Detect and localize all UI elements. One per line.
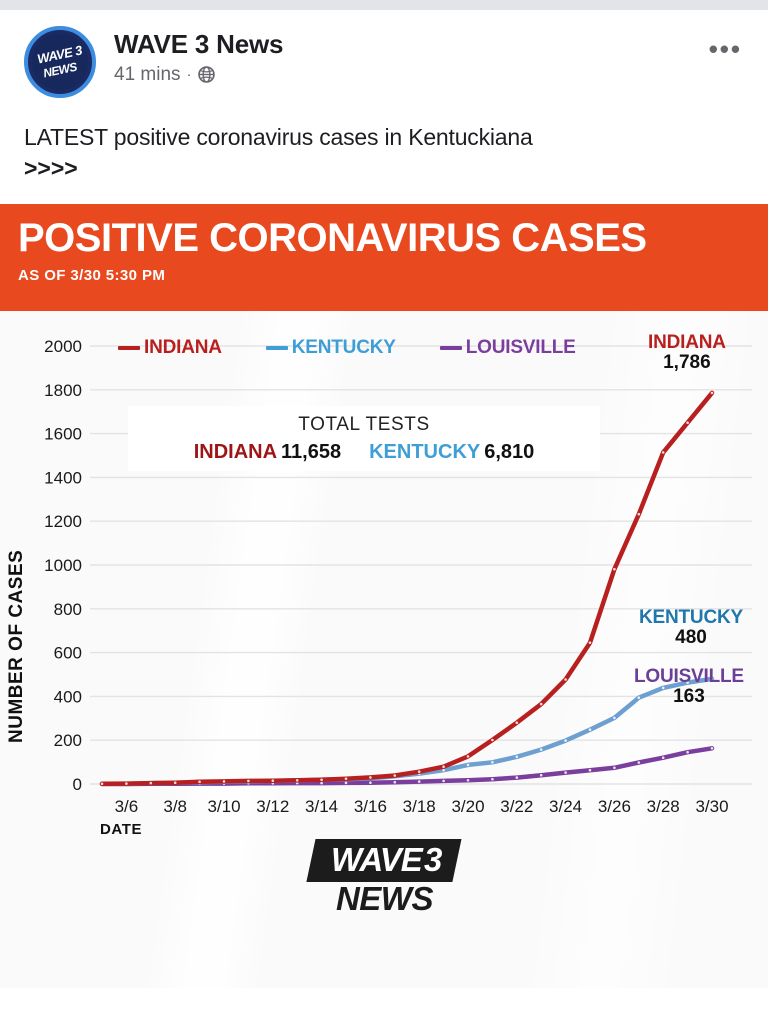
series-marker (589, 641, 592, 644)
series-marker (467, 764, 470, 767)
legend-item-indiana[interactable]: INDIANA (118, 337, 222, 359)
series-marker (320, 779, 323, 782)
post-meta: 41 mins · (114, 64, 283, 86)
series-marker (589, 769, 592, 772)
page-title[interactable]: WAVE 3 News (114, 30, 283, 60)
x-tick-label: 3/24 (549, 797, 582, 816)
series-marker (223, 780, 226, 783)
legend-swatch-indiana (118, 346, 140, 350)
total-tests-panel: TOTAL TESTS INDIANA11,658 KENTUCKY6,810 (128, 406, 600, 471)
series-marker (686, 751, 689, 754)
wave-logo-bar: WAVE 3 (306, 839, 461, 882)
series-marker (272, 779, 275, 782)
series-marker (442, 780, 445, 783)
x-tick-label: 3/16 (354, 797, 387, 816)
series-marker (589, 728, 592, 731)
total-tests-indiana-label: INDIANA (194, 441, 277, 463)
series-marker (320, 782, 323, 785)
x-tick-label: 3/6 (115, 797, 139, 816)
series-marker (711, 747, 714, 750)
x-tick-label: 3/14 (305, 797, 338, 816)
series-marker (394, 774, 397, 777)
total-tests-kentucky: KENTUCKY6,810 (369, 441, 534, 464)
avatar-logo: WAVE 3 NEWS (32, 34, 88, 90)
series-marker (247, 780, 250, 783)
x-tick-label: 3/30 (695, 797, 728, 816)
series-marker (564, 739, 567, 742)
x-tick-label: 3/8 (163, 797, 187, 816)
series-marker (345, 782, 348, 785)
series-endlabel-louisville: LOUISVILLE 163 (634, 667, 744, 707)
y-tick-label: 600 (54, 644, 82, 663)
series-marker (174, 781, 177, 784)
x-tick-label: 3/18 (403, 797, 436, 816)
series-endlabel-louisville-name: LOUISVILLE (634, 667, 744, 687)
wave-logo-sub-text: NEWS (336, 880, 433, 918)
series-marker (662, 451, 665, 454)
wave-logo-sub: NEWS (332, 880, 436, 918)
post-message: LATEST positive coronavirus cases in Ken… (0, 98, 768, 184)
series-marker (125, 782, 128, 785)
legend-item-louisville[interactable]: LOUISVILLE (440, 337, 576, 359)
series-endlabel-kentucky: KENTUCKY 480 (639, 608, 743, 648)
series-marker (442, 769, 445, 772)
series-endlabel-kentucky-value: 480 (639, 628, 743, 648)
y-tick-label: 1200 (44, 512, 82, 531)
legend-swatch-kentucky (266, 346, 288, 350)
more-options-icon[interactable]: ••• (709, 36, 742, 62)
series-marker (418, 780, 421, 783)
total-tests-values: INDIANA11,658 KENTUCKY6,810 (194, 441, 535, 464)
post-header-text: WAVE 3 News 41 mins · (114, 26, 283, 86)
x-tick-label: 3/28 (647, 797, 680, 816)
y-tick-label: 1000 (44, 556, 82, 575)
status-bar-strip (0, 0, 768, 10)
wave-logo-number: 3 (424, 841, 441, 879)
x-axis-title: DATE (100, 821, 142, 838)
series-marker (369, 776, 372, 779)
y-tick-label: 400 (54, 687, 82, 706)
series-marker (394, 781, 397, 784)
series-marker (345, 777, 348, 780)
facebook-post-screenshot: WAVE 3 NEWS WAVE 3 News 41 mins · (0, 0, 768, 1024)
post-timestamp[interactable]: 41 mins (114, 64, 181, 86)
series-line-louisville (102, 748, 712, 784)
meta-separator: · (187, 66, 192, 83)
y-tick-label: 1600 (44, 425, 82, 444)
banner-subtitle: AS OF 3/30 5:30 PM (18, 267, 750, 284)
series-marker (491, 761, 494, 764)
series-marker (638, 513, 641, 516)
x-tick-label: 3/10 (207, 797, 240, 816)
post-message-line-2: >>>> (24, 153, 744, 184)
series-marker (418, 770, 421, 773)
series-endlabel-louisville-value: 163 (634, 687, 744, 707)
y-tick-label: 200 (54, 731, 82, 750)
series-marker (686, 421, 689, 424)
legend-label-kentucky: KENTUCKY (292, 337, 396, 359)
y-tick-label: 0 (73, 775, 82, 794)
x-tick-label: 3/22 (500, 797, 533, 816)
globe-icon[interactable] (198, 66, 215, 83)
series-marker (564, 771, 567, 774)
wave-news-logo: WAVE 3 NEWS (311, 839, 457, 918)
total-tests-indiana: INDIANA11,658 (194, 441, 341, 464)
series-marker (613, 767, 616, 770)
series-marker (491, 778, 494, 781)
chart-graphic: 0200400600800100012001400160018002000 3/… (0, 311, 768, 988)
y-axis-title: NUMBER OF CASES (6, 550, 28, 743)
series-endlabel-indiana-name: INDIANA (648, 333, 726, 353)
x-tick-label: 3/12 (256, 797, 289, 816)
wave-logo-text: WAVE (331, 841, 422, 879)
series-marker (662, 756, 665, 759)
series-marker (564, 678, 567, 681)
x-axis-tick-labels: 3/63/83/103/123/143/163/183/203/223/243/… (115, 797, 729, 816)
series-marker (540, 774, 543, 777)
y-tick-label: 1400 (44, 468, 82, 487)
series-marker (638, 761, 641, 764)
series-marker (540, 703, 543, 706)
total-tests-kentucky-label: KENTUCKY (369, 441, 480, 463)
legend-swatch-louisville (440, 346, 462, 350)
series-marker (516, 756, 519, 759)
banner-title: POSITIVE CORONAVIRUS CASES (18, 218, 750, 258)
post-message-line-1: LATEST positive coronavirus cases in Ken… (24, 124, 533, 150)
series-marker (442, 765, 445, 768)
legend-label-indiana: INDIANA (144, 337, 222, 359)
series-endlabel-indiana-value: 1,786 (648, 353, 726, 373)
series-marker (516, 776, 519, 779)
x-tick-label: 3/26 (598, 797, 631, 816)
series-marker (101, 783, 104, 786)
series-marker (198, 781, 201, 784)
total-tests-kentucky-value: 6,810 (484, 441, 534, 463)
series-marker (516, 721, 519, 724)
legend-item-kentucky[interactable]: KENTUCKY (266, 337, 396, 359)
series-endlabel-indiana: INDIANA 1,786 (648, 333, 726, 373)
series-marker (491, 739, 494, 742)
x-tick-label: 3/20 (451, 797, 484, 816)
graphic-banner: POSITIVE CORONAVIRUS CASES AS OF 3/30 5:… (0, 204, 768, 311)
avatar[interactable]: WAVE 3 NEWS (24, 26, 96, 98)
series-marker (467, 755, 470, 758)
series-marker (467, 779, 470, 782)
total-tests-title: TOTAL TESTS (298, 414, 430, 436)
series-marker (613, 717, 616, 720)
series-marker (150, 782, 153, 785)
y-tick-label: 800 (54, 600, 82, 619)
series-marker (540, 748, 543, 751)
y-axis-tick-labels: 0200400600800100012001400160018002000 (44, 337, 82, 794)
series-marker (613, 568, 616, 571)
series-marker (296, 779, 299, 782)
series-marker (711, 392, 714, 395)
total-tests-indiana-value: 11,658 (281, 441, 341, 463)
legend-label-louisville: LOUISVILLE (466, 337, 576, 359)
y-tick-label: 1800 (44, 381, 82, 400)
post-header: WAVE 3 NEWS WAVE 3 News 41 mins · (0, 10, 768, 98)
series-endlabel-kentucky-name: KENTUCKY (639, 608, 743, 628)
series-marker (369, 781, 372, 784)
y-tick-label: 2000 (44, 337, 82, 356)
chart-legend: INDIANA KENTUCKY LOUISVILLE (118, 337, 576, 359)
